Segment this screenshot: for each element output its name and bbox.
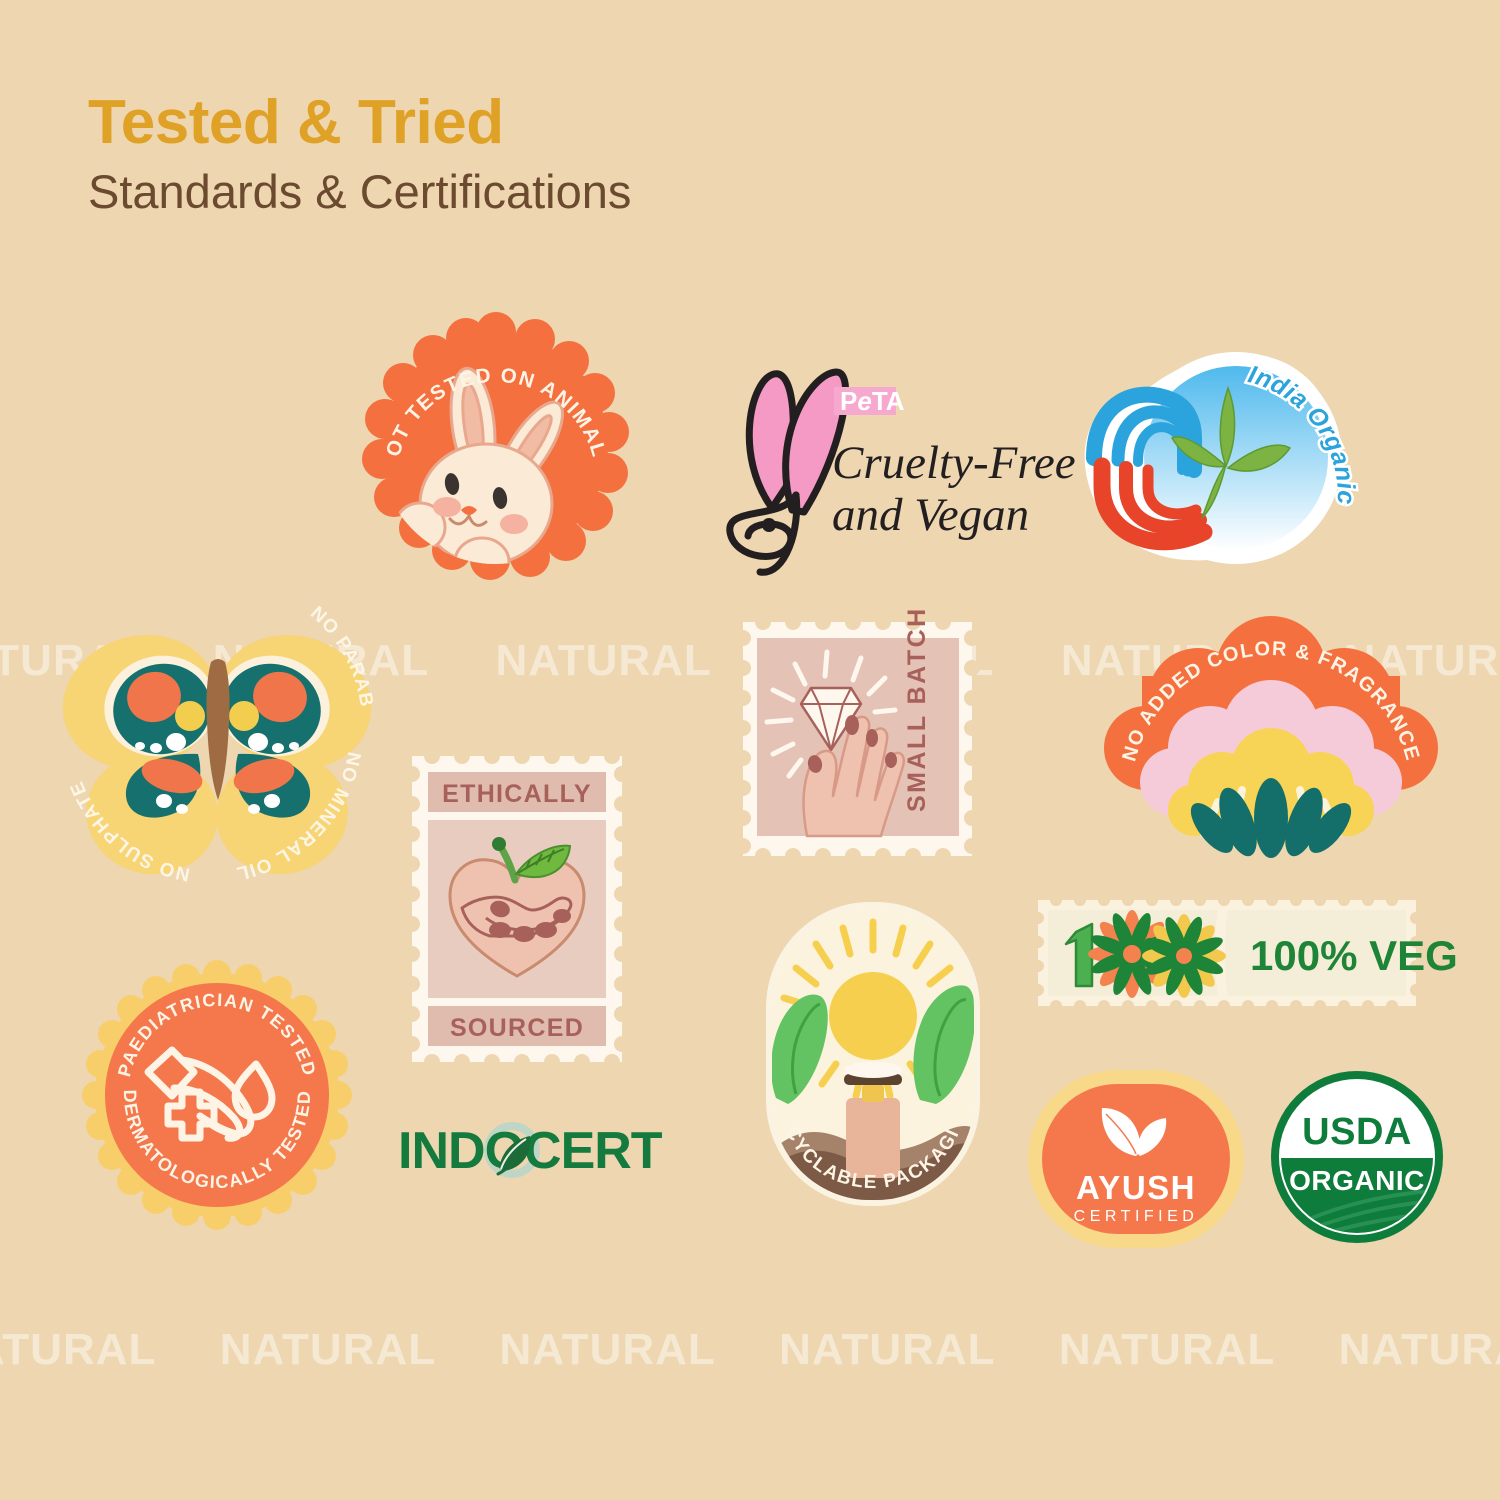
ayush-sub-label: CERTIFIED xyxy=(1074,1208,1199,1225)
badge-not-tested-on-animals[interactable]: NOT TESTED ON ANIMALS xyxy=(362,312,630,580)
page-subtitle: Standards & Certifications xyxy=(88,168,631,215)
badge-peta-cruelty-free[interactable]: PeTA Cruelty-Free and Vegan xyxy=(712,360,1052,585)
india-organic-icon xyxy=(1085,352,1342,564)
peta-bunny-icon xyxy=(730,372,846,572)
badge-hundred-percent-veg[interactable]: 100% VEG xyxy=(1032,894,1422,1012)
cruelty-free-line2: and Vegan xyxy=(832,489,1029,541)
watermark-text: NATURAL xyxy=(1059,1325,1275,1375)
badge-indocert[interactable]: INDOCERT xyxy=(398,1116,650,1182)
badge-butterfly-free-from[interactable]: NO PARABEN NO MINERAL OIL NO SULPHATE xyxy=(48,596,388,896)
watermark-text: NATURAL xyxy=(1339,1325,1500,1375)
usda-top-label: USDA xyxy=(1302,1111,1412,1153)
watermark-row-bottom: NATURAL NATURAL NATURAL NATURAL NATURAL … xyxy=(0,1325,1500,1375)
watermark-text: NATURAL xyxy=(220,1325,436,1375)
usda-bottom-label: ORGANIC xyxy=(1289,1165,1425,1196)
veg-label: 100% VEG xyxy=(1250,932,1458,979)
ethically-label: ETHICALLY xyxy=(442,780,592,808)
badge-paediatrician-dermatologically-tested[interactable]: PAEDIATRICIAN TESTED DERMATOLOGICALLY TE… xyxy=(82,960,352,1230)
sourced-label: SOURCED xyxy=(450,1014,584,1042)
badge-india-organic[interactable]: India Organic xyxy=(1060,318,1380,593)
ayush-main-label: AYUSH xyxy=(1076,1169,1196,1206)
badge-no-added-color-fragrance[interactable]: NO ADDED COLOR & FRAGRANCE xyxy=(1112,606,1430,856)
watermark-text: NATURAL xyxy=(499,1325,715,1375)
watermark-text: NATURAL xyxy=(0,1325,156,1375)
watermark-text: NATURAL xyxy=(779,1325,995,1375)
watermark-text: NATURAL xyxy=(495,636,711,686)
badge-usda-organic[interactable]: USDA ORGANIC xyxy=(1268,1068,1446,1246)
small-batch-label: SMALL BATCH xyxy=(903,606,931,812)
page-header: Tested & Tried Standards & Certification… xyxy=(88,92,631,215)
indocert-label: INDOCERT xyxy=(398,1122,663,1180)
cruelty-free-line1: Cruelty-Free xyxy=(832,437,1076,489)
usda-organic-icon xyxy=(1268,1068,1446,1246)
badge-ayush-certified[interactable]: AYUSH CERTIFIED xyxy=(1024,1064,1248,1254)
butterfly-icon xyxy=(47,617,387,884)
peta-brand-label: PeTA xyxy=(840,386,905,416)
badge-ethically-sourced[interactable]: ETHICALLY SOURCED xyxy=(404,748,630,1070)
badge-small-batch[interactable]: SMALL BATCH xyxy=(735,614,980,864)
badge-recyclable-packaging[interactable]: RECYCLABLE PACKAGING xyxy=(762,898,984,1210)
page-title: Tested & Tried xyxy=(88,92,631,154)
